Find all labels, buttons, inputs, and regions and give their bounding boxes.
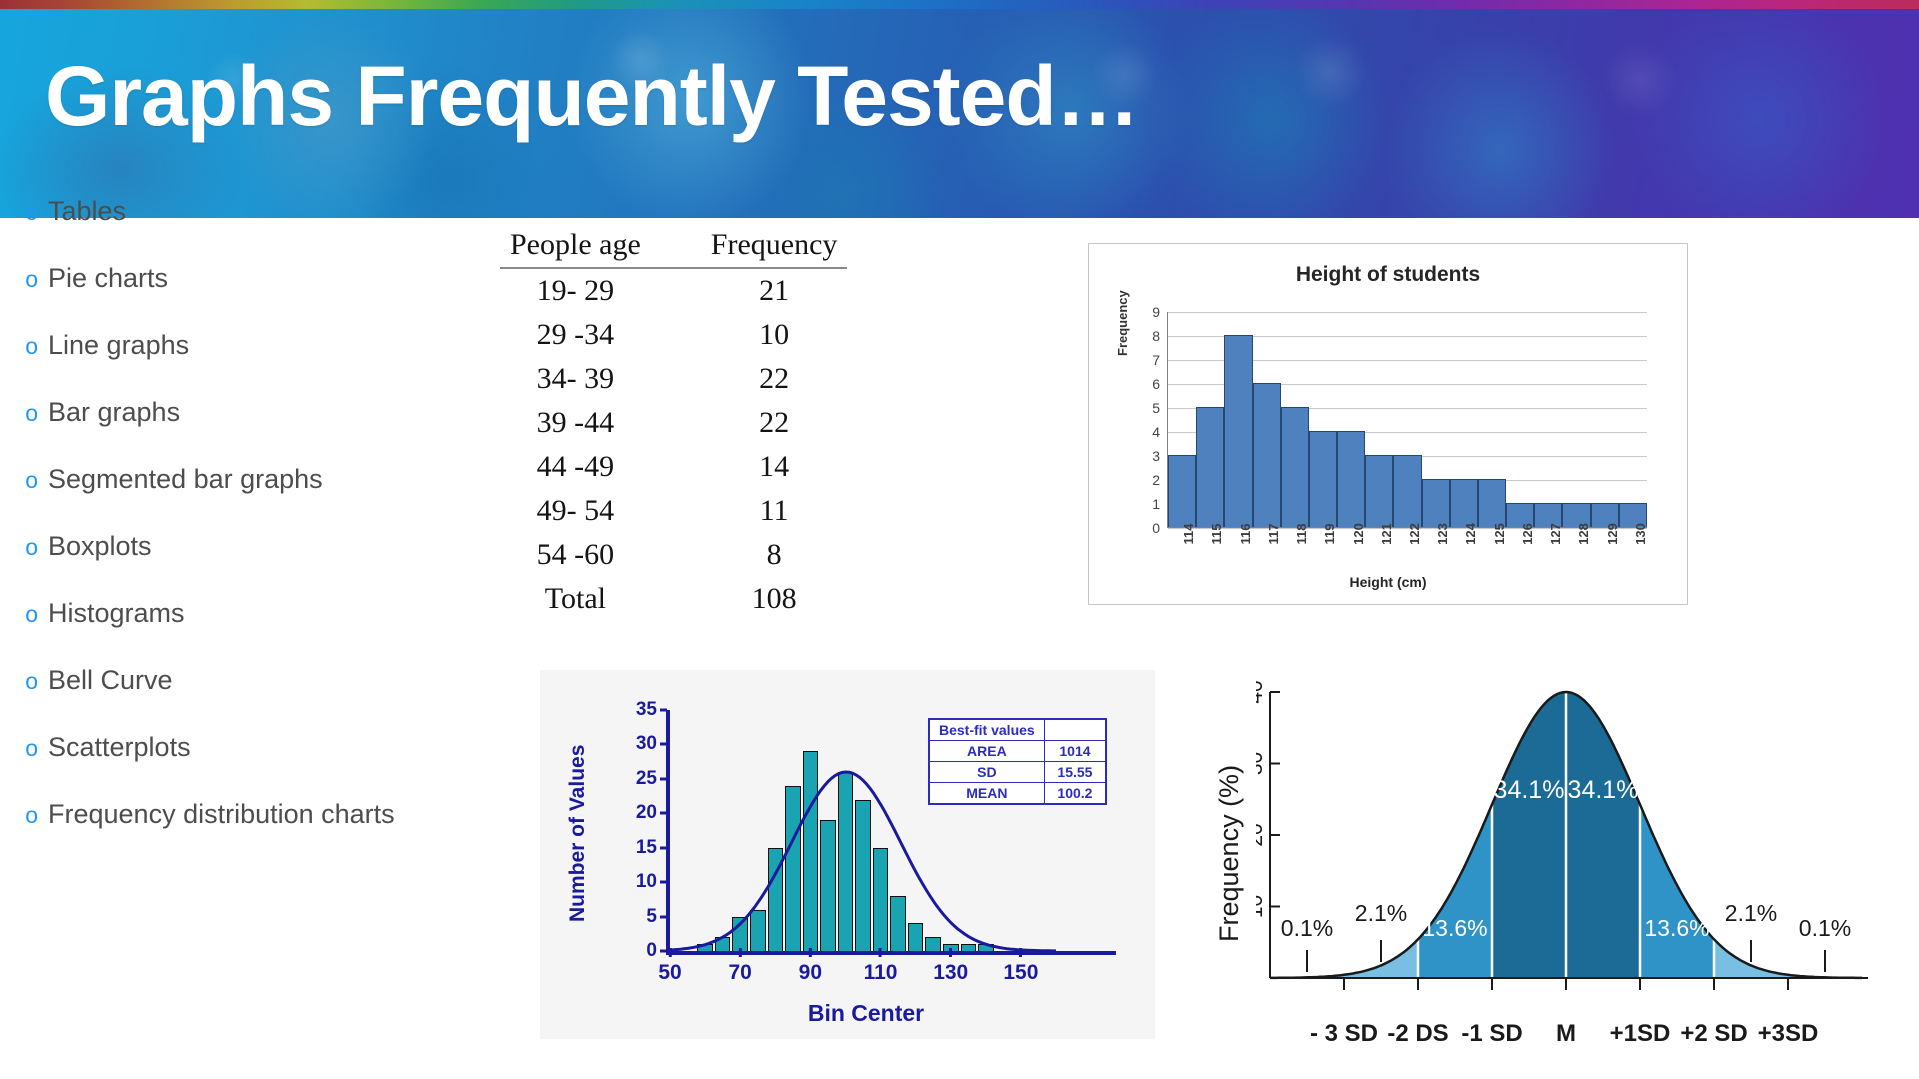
- table-row: Total108: [500, 577, 847, 621]
- y-axis-tick-label: 10: [1256, 895, 1267, 918]
- banner-rainbow-stripe: [0, 0, 1919, 9]
- x-axis-tick-label: 130: [1633, 523, 1648, 545]
- x-axis-tick-label: - 3 SD: [1310, 1020, 1378, 1048]
- y-axis-tick-label: 30: [1256, 752, 1267, 775]
- y-axis-tick-label: 5: [1152, 400, 1160, 416]
- bullet-circle-icon: o: [0, 603, 48, 626]
- y-axis-tick-label: 2: [1152, 472, 1160, 488]
- x-axis-tick-label: 114: [1181, 524, 1196, 545]
- table-row: 54 -608: [500, 533, 847, 577]
- x-axis-tick-label: 70: [728, 961, 751, 985]
- x-axis-tick: 126: [1506, 532, 1534, 574]
- histogram-bar: [1253, 383, 1281, 527]
- bell-curve-plot: 1020304034.1%34.1%13.6%13.6%2.1%2.1%0.1%…: [1256, 678, 1876, 1023]
- y-axis-tick-label: 6: [1152, 376, 1160, 392]
- bullet-circle-icon: o: [0, 536, 48, 559]
- list-item-label: Frequency distribution charts: [48, 799, 395, 830]
- x-axis-tick-label: +1SD: [1610, 1020, 1671, 1048]
- y-axis-tick-label: 4: [1152, 424, 1160, 440]
- cell-people-age: 49- 54: [500, 489, 701, 533]
- best-fit-values-legend: Best-fit values AREA 1014 SD 15.55 MEAN …: [928, 718, 1107, 805]
- cell-people-age: 39 -44: [500, 401, 701, 445]
- bullet-circle-icon: o: [0, 469, 48, 492]
- table-row: 49- 5411: [500, 489, 847, 533]
- cell-frequency: 21: [701, 268, 848, 313]
- x-axis-tick: 121: [1365, 532, 1393, 574]
- people-age-frequency-table: People age Frequency 19- 292129 -341034-…: [500, 228, 847, 621]
- x-axis-tick-label: 110: [864, 961, 898, 985]
- x-axis-tick: 115: [1195, 532, 1223, 574]
- x-axis-tick-label: 117: [1266, 524, 1281, 545]
- column-header-frequency: Frequency: [701, 228, 848, 268]
- x-axis-line: [666, 951, 1116, 955]
- bullet-circle-icon: o: [0, 402, 48, 425]
- x-axis-tick-label: 119: [1322, 524, 1337, 545]
- bullet-circle-icon: o: [0, 804, 48, 827]
- y-axis-label: Frequency: [1115, 290, 1130, 356]
- y-axis-tick-label: 15: [636, 837, 657, 859]
- list-item: oPie charts: [0, 263, 470, 330]
- list-item-label: Bell Curve: [48, 665, 173, 696]
- x-axis-tick: 123: [1421, 532, 1449, 574]
- band-percentage-label: 2.1%: [1725, 900, 1777, 926]
- x-axis-tick-label: 121: [1379, 523, 1394, 545]
- x-axis-tick-label: 123: [1435, 523, 1450, 545]
- legend-value-mean: 100.2: [1044, 783, 1106, 805]
- histogram-bar: [1281, 407, 1309, 527]
- cell-people-age: 44 -49: [500, 445, 701, 489]
- list-item: oHistograms: [0, 598, 470, 665]
- list-item-label: Histograms: [48, 598, 185, 629]
- legend-row-sd: SD 15.55: [929, 762, 1106, 783]
- y-axis-tick-label: 40: [1256, 680, 1267, 703]
- list-item-label: Tables: [48, 196, 126, 227]
- list-item-label: Scatterplots: [48, 732, 191, 763]
- x-axis-label: Height (cm): [1089, 574, 1687, 590]
- x-axis-tick: 117: [1252, 532, 1280, 574]
- x-axis-tick-label: M: [1556, 1020, 1576, 1048]
- legend-header-value: [1044, 719, 1106, 741]
- x-axis-tick-label: 115: [1209, 524, 1224, 545]
- x-axis-ticks: 1141151161171181191201211221231241251261…: [1167, 532, 1647, 574]
- x-axis-tick-label: 116: [1238, 524, 1253, 545]
- cell-people-age: 19- 29: [500, 268, 701, 313]
- x-axis-tick: 127: [1534, 532, 1562, 574]
- table-header-row: People age Frequency: [500, 228, 847, 268]
- bullet-circle-icon: o: [0, 670, 48, 693]
- slide-header-banner: Graphs Frequently Tested…: [0, 0, 1919, 218]
- histogram-bar: [1224, 335, 1252, 527]
- x-axis-tick-label: 128: [1576, 523, 1591, 545]
- list-item: oBell Curve: [0, 665, 470, 732]
- x-axis-tick-label: 90: [799, 961, 822, 985]
- histogram-bar: [1168, 455, 1196, 527]
- y-axis-tick-label: 1: [1152, 496, 1160, 512]
- x-axis-tick-label: 118: [1294, 524, 1309, 545]
- histogram-bar: [1337, 431, 1365, 527]
- x-axis-tick-label: -2 DS: [1387, 1020, 1448, 1048]
- table-row: 19- 2921: [500, 268, 847, 313]
- list-item-label: Pie charts: [48, 263, 168, 294]
- y-axis-tick-label: 10: [636, 871, 657, 893]
- y-axis-tick-label: 30: [636, 733, 657, 755]
- list-item: oFrequency distribution charts: [0, 799, 470, 866]
- band-percentage-label: 13.6%: [1644, 915, 1709, 941]
- table-row: 44 -4914: [500, 445, 847, 489]
- x-axis-tick-label: 122: [1407, 523, 1422, 545]
- legend-value-sd: 15.55: [1044, 762, 1106, 783]
- x-axis-tick: 118: [1280, 532, 1308, 574]
- cell-people-age: 29 -34: [500, 313, 701, 357]
- y-axis-tick-label: 20: [1256, 823, 1267, 846]
- band-percentage-label: 0.1%: [1799, 915, 1851, 941]
- x-axis-tick: 125: [1478, 532, 1506, 574]
- y-axis-tick-label: 8: [1152, 328, 1160, 344]
- x-axis-label: Bin Center: [666, 1000, 1066, 1027]
- bin-center-histogram: Number of Values 05101520253035 50709011…: [540, 670, 1155, 1039]
- y-axis-tick-label: 0: [1152, 520, 1160, 536]
- list-item: oSegmented bar graphs: [0, 464, 470, 531]
- column-header-people-age: People age: [500, 228, 701, 268]
- legend-row-mean: MEAN 100.2: [929, 783, 1106, 805]
- x-axis-tick: 120: [1336, 532, 1364, 574]
- table-row: 29 -3410: [500, 313, 847, 357]
- bullet-circle-icon: o: [0, 737, 48, 760]
- y-axis-tick-label: 9: [1152, 304, 1160, 320]
- cell-frequency: 22: [701, 357, 848, 401]
- y-axis-label: Frequency (%): [1214, 765, 1245, 942]
- legend-name-mean: MEAN: [929, 783, 1044, 805]
- histogram-bar: [1365, 455, 1393, 527]
- x-axis-tick: 129: [1591, 532, 1619, 574]
- y-axis-tick-label: 0: [646, 940, 657, 962]
- legend-header-label: Best-fit values: [929, 719, 1044, 741]
- list-item: oScatterplots: [0, 732, 470, 799]
- table-row: 39 -4422: [500, 401, 847, 445]
- x-axis-tick-label: 124: [1463, 523, 1478, 545]
- bullet-circle-icon: o: [0, 268, 48, 291]
- x-axis-tick-label: 130: [933, 961, 968, 985]
- legend-value-area: 1014: [1044, 741, 1106, 762]
- x-axis-tick-labels: - 3 SD-2 DS-1 SDM+1SD+2 SD+3SD: [1256, 1020, 1876, 1060]
- histogram-bar: [1196, 407, 1224, 527]
- list-item: oLine graphs: [0, 330, 470, 397]
- list-item: oBoxplots: [0, 531, 470, 598]
- normal-distribution-bell-curve: Frequency (%) 1020304034.1%34.1%13.6%13.…: [1200, 672, 1900, 1072]
- list-item-label: Boxplots: [48, 531, 152, 562]
- y-axis-tick-label: 7: [1152, 352, 1160, 368]
- histogram-bar: [1422, 479, 1450, 527]
- band-percentage-label: 0.1%: [1281, 915, 1333, 941]
- x-axis-tick-label: 120: [1351, 523, 1366, 545]
- cell-frequency: 108: [701, 577, 848, 621]
- x-axis-tick: 122: [1393, 532, 1421, 574]
- y-axis-tick-label: 25: [636, 768, 657, 790]
- cell-people-age: 54 -60: [500, 533, 701, 577]
- graph-types-list: oTablesoPie chartsoLine graphsoBar graph…: [0, 196, 470, 866]
- chart-title: Height of students: [1089, 263, 1687, 287]
- x-axis-tick-label: +3SD: [1758, 1020, 1819, 1048]
- legend-row-area: AREA 1014: [929, 741, 1106, 762]
- cell-frequency: 22: [701, 401, 848, 445]
- list-item-label: Bar graphs: [48, 397, 180, 428]
- x-axis-tick: 119: [1308, 532, 1336, 574]
- x-axis-tick: 128: [1562, 532, 1590, 574]
- cell-frequency: 14: [701, 445, 848, 489]
- legend-header-row: Best-fit values: [929, 719, 1106, 741]
- page-title: Graphs Frequently Tested…: [45, 48, 1139, 145]
- band-percentage-label: 2.1%: [1355, 900, 1407, 926]
- histogram-bar: [1393, 455, 1421, 527]
- band-percentage-label: 13.6%: [1422, 915, 1487, 941]
- x-axis-tick-label: 127: [1548, 523, 1563, 545]
- list-item-label: Segmented bar graphs: [48, 464, 323, 495]
- x-axis-tick-label: -1 SD: [1461, 1020, 1522, 1048]
- y-axis-tick-label: 20: [636, 802, 657, 824]
- x-axis-tick-label: 129: [1605, 523, 1620, 545]
- y-axis-tick-label: 5: [646, 906, 657, 928]
- x-axis-tick-label: 126: [1520, 523, 1535, 545]
- x-axis-tick: 114: [1167, 532, 1195, 574]
- x-axis-tick: 124: [1449, 532, 1477, 574]
- bullet-circle-icon: o: [0, 335, 48, 358]
- cell-people-age: 34- 39: [500, 357, 701, 401]
- cell-frequency: 11: [701, 489, 848, 533]
- cell-frequency: 8: [701, 533, 848, 577]
- histogram-bar: [1478, 479, 1506, 527]
- plot-area: 0123456789: [1167, 312, 1647, 528]
- histogram-bar: [1450, 479, 1478, 527]
- x-axis-ticks: 507090110130150: [666, 961, 1116, 991]
- bell-curve-band: [1492, 692, 1566, 978]
- legend-name-area: AREA: [929, 741, 1044, 762]
- band-percentage-label: 34.1%: [1494, 776, 1565, 804]
- legend-name-sd: SD: [929, 762, 1044, 783]
- cell-people-age: Total: [500, 577, 701, 621]
- x-axis-tick-label: 150: [1003, 961, 1038, 985]
- y-axis-tick-label: 3: [1152, 448, 1160, 464]
- x-axis-tick-label: 125: [1492, 523, 1507, 545]
- band-percentage-label: 34.1%: [1568, 776, 1639, 804]
- y-axis-label: Number of Values: [566, 745, 590, 922]
- x-axis-tick: 116: [1223, 532, 1251, 574]
- y-axis-tick-label: 35: [636, 699, 657, 721]
- height-of-students-histogram: Height of students Frequency 0123456789 …: [1088, 243, 1688, 605]
- x-axis-tick-label: 50: [658, 961, 681, 985]
- cell-frequency: 10: [701, 313, 848, 357]
- list-item: oTables: [0, 196, 470, 263]
- list-item: oBar graphs: [0, 397, 470, 464]
- bullet-circle-icon: o: [0, 201, 48, 224]
- histogram-bar: [1309, 431, 1337, 527]
- list-item-label: Line graphs: [48, 330, 189, 361]
- bell-curve-band: [1566, 692, 1640, 978]
- bar-series: [1168, 312, 1647, 527]
- table-row: 34- 3922: [500, 357, 847, 401]
- x-axis-tick: 130: [1619, 532, 1647, 574]
- x-axis-tick-label: +2 SD: [1680, 1020, 1747, 1048]
